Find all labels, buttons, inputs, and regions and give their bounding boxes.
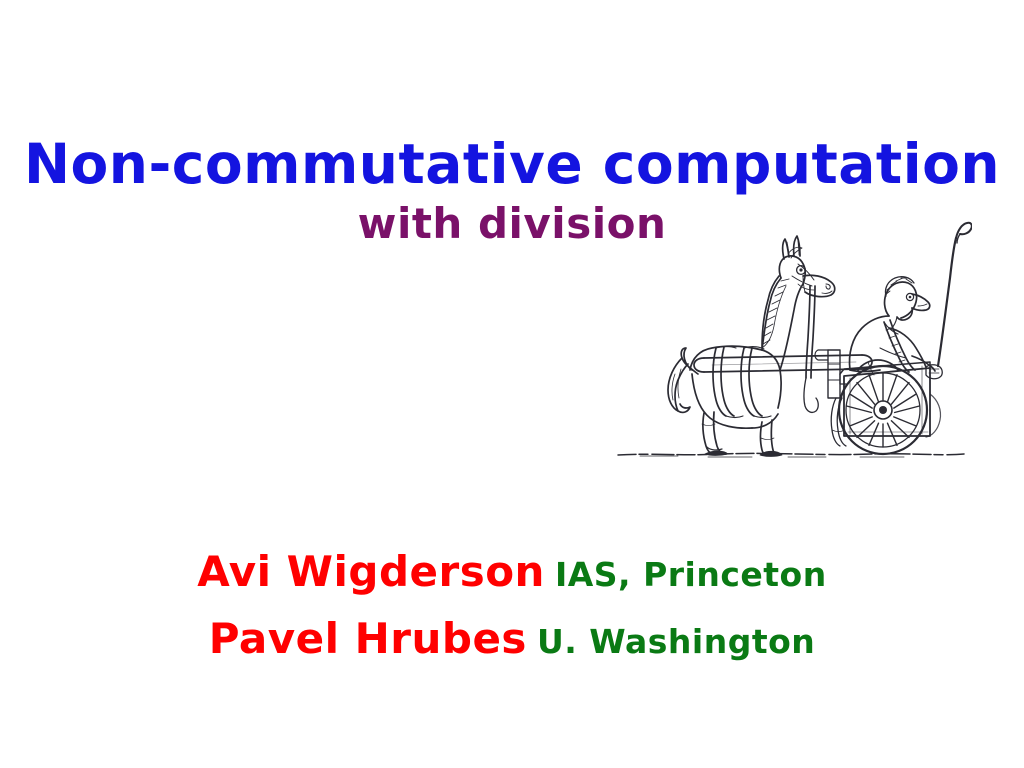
author-name: Avi Wigderson [197, 547, 545, 596]
author-line: Pavel HrubesU. Washington [0, 610, 1024, 677]
author-affiliation: U. Washington [537, 622, 815, 661]
page-title: Non-commutative computation [0, 133, 1024, 195]
author-line: Avi WigdersonIAS, Princeton [0, 543, 1024, 610]
author-affiliation: IAS, Princeton [555, 555, 827, 594]
presentation-slide: Non-commutative computation with divisio… [0, 0, 1024, 768]
cart-before-the-horse-cartoon-icon [612, 198, 972, 466]
cartoon-illustration-svg [612, 198, 972, 466]
authors-block: Avi WigdersonIAS, Princeton Pavel Hrubes… [0, 543, 1024, 677]
author-name: Pavel Hrubes [209, 614, 527, 663]
